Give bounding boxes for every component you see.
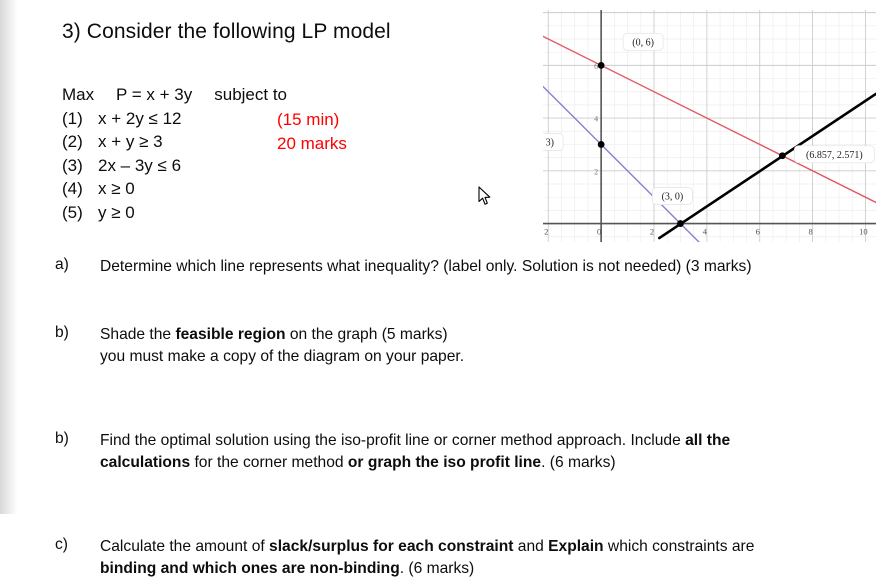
question-marker: c) — [55, 536, 83, 554]
svg-text:(3, 0): (3, 0) — [662, 192, 684, 203]
question-item-b1: b) Shade the feasible region on the grap… — [55, 324, 885, 368]
question-marker: b) — [55, 324, 83, 342]
constraint-expression: y ≥ 0 — [98, 201, 135, 225]
constraint-number: (3) — [62, 154, 98, 178]
constraint-number: (5) — [62, 201, 98, 225]
objective-tail: subject to — [192, 83, 287, 107]
constraint-row: (2)x + y ≥ 3 — [62, 130, 287, 154]
graph-svg: 64220246810(0, 6)(0, 3)(3, 0)(6.857, 2.5… — [536, 6, 888, 246]
question-line: Shade the feasible region on the graph (… — [100, 324, 885, 346]
question-line: you must make a copy of the diagram on y… — [100, 346, 885, 368]
question-item-c: c) Calculate the amount of slack/surplus… — [55, 536, 885, 580]
question-item-b2: b) Find the optimal solution using the i… — [55, 430, 885, 474]
svg-text:2: 2 — [650, 227, 654, 237]
question-line: Determine which line represents what ine… — [100, 256, 885, 278]
svg-text:10: 10 — [859, 227, 868, 237]
svg-text:(6.857, 2.571): (6.857, 2.571) — [806, 150, 863, 161]
question-text: Calculate the amount of slack/surplus fo… — [100, 536, 885, 580]
svg-text:2: 2 — [544, 227, 548, 237]
mouse-pointer-icon — [478, 186, 492, 206]
question-item-a: a) Determine which line represents what … — [55, 256, 885, 278]
constraint-expression: 2x – 3y ≤ 6 — [98, 154, 181, 178]
question-text: Find the optimal solution using the iso-… — [100, 430, 885, 474]
total-marks-note: 20 marks — [277, 134, 347, 154]
svg-text:6: 6 — [594, 62, 598, 71]
objective-body: P = x + 3y — [116, 83, 192, 107]
svg-text:0: 0 — [597, 227, 601, 237]
svg-text:8: 8 — [808, 227, 812, 237]
question-text: Shade the feasible region on the graph (… — [100, 324, 885, 368]
question-line: calculations for the corner method or gr… — [100, 452, 885, 474]
constraint-row: (3)2x – 3y ≤ 6 — [62, 154, 287, 178]
constraint-expression: x ≥ 0 — [98, 177, 135, 201]
constraint-expression: x + y ≥ 3 — [98, 130, 163, 154]
constraint-number: (4) — [62, 177, 98, 201]
lp-model-block: MaxP = x + 3ysubject to (1)x + 2y ≤ 12 (… — [62, 83, 287, 224]
question-text: Determine which line represents what ine… — [100, 256, 885, 278]
question-line: Find the optimal solution using the iso-… — [100, 430, 885, 452]
slide-left-edge-shadow — [0, 0, 18, 514]
question-line: Calculate the amount of slack/surplus fo… — [100, 536, 885, 558]
constraint-row: (4)x ≥ 0 — [62, 177, 287, 201]
svg-text:4: 4 — [594, 115, 598, 124]
constraint-number: (2) — [62, 130, 98, 154]
slide-page: 3) Consider the following LP model MaxP … — [0, 0, 894, 514]
question-marker: a) — [55, 256, 83, 274]
question-marker: b) — [55, 430, 83, 448]
constraint-row: (1)x + 2y ≤ 12 — [62, 107, 287, 131]
lp-graph: 64220246810(0, 6)(0, 3)(3, 0)(6.857, 2.5… — [536, 6, 888, 246]
constraint-number: (1) — [62, 107, 98, 131]
svg-text:2: 2 — [594, 167, 598, 176]
svg-text:(0, 6): (0, 6) — [632, 37, 654, 48]
objective-row: MaxP = x + 3ysubject to — [62, 83, 287, 107]
page-title: 3) Consider the following LP model — [62, 20, 391, 44]
svg-text:4: 4 — [703, 227, 708, 237]
question-list: a) Determine which line represents what … — [55, 256, 885, 410]
constraint-row: (5)y ≥ 0 — [62, 201, 287, 225]
objective-lead: Max — [62, 83, 116, 107]
constraint-expression: x + 2y ≤ 12 — [98, 107, 182, 131]
time-limit-note: (15 min) — [277, 110, 339, 130]
question-line: binding and which ones are non-binding. … — [100, 558, 885, 580]
svg-text:6: 6 — [756, 227, 760, 237]
